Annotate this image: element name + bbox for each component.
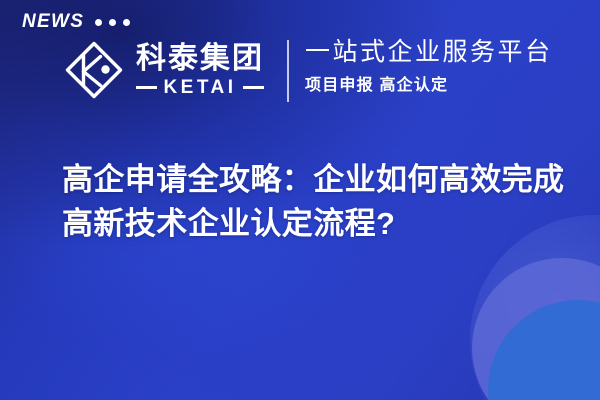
- dot-icon: [109, 19, 116, 26]
- eyebrow: NEWS: [22, 12, 130, 31]
- tagline-secondary: 项目申报 高企认定: [305, 76, 553, 95]
- brand-name-en: KETAI: [163, 78, 236, 97]
- brand-name-cn: 科泰集团: [136, 43, 264, 75]
- tagline: 一站式企业服务平台 项目申报 高企认定: [305, 38, 553, 95]
- news-banner: NEWS 科泰集团: [0, 0, 600, 400]
- dot-icon: [95, 19, 102, 26]
- rule-left: [136, 86, 157, 89]
- header-divider: [287, 40, 289, 102]
- brand-wordmark: 科泰集团 KETAI: [136, 43, 264, 96]
- rule-right: [243, 86, 264, 89]
- eyebrow-dots-icon: [95, 17, 130, 26]
- headline-title: 高企申请全攻略：企业如何高效完成高新技术企业认定流程?: [62, 158, 572, 246]
- dot-icon: [123, 19, 130, 26]
- brand-name-en-row: KETAI: [136, 78, 264, 97]
- eyebrow-label: NEWS: [22, 12, 84, 31]
- tagline-primary: 一站式企业服务平台: [305, 38, 553, 68]
- brand-logo: 科泰集团 KETAI: [62, 38, 264, 102]
- ketai-diamond-k-logo-icon: [62, 38, 126, 102]
- banner-content: NEWS 科泰集团: [0, 0, 600, 400]
